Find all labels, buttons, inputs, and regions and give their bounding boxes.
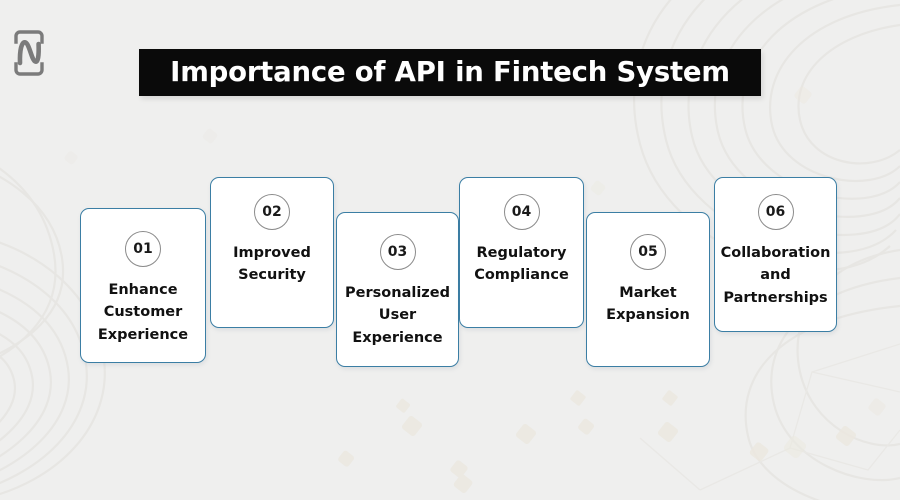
step-number-badge: 01 bbox=[125, 231, 161, 267]
step-number-badge: 04 bbox=[504, 194, 540, 230]
step-card-5[interactable]: 05 Market Expansion bbox=[586, 212, 710, 367]
brand-logo bbox=[13, 30, 45, 76]
step-card-2[interactable]: 02 Improved Security bbox=[210, 177, 334, 328]
step-card-6[interactable]: 06 Collaboration and Partnerships bbox=[714, 177, 837, 332]
step-label: Personalized User Experience bbox=[337, 282, 458, 349]
step-label: Regulatory Compliance bbox=[466, 242, 577, 287]
step-card-3[interactable]: 03 Personalized User Experience bbox=[336, 212, 459, 367]
step-label: Collaboration and Partnerships bbox=[713, 242, 839, 309]
step-card-1[interactable]: 01 Enhance Customer Experience bbox=[80, 208, 206, 363]
step-label: Improved Security bbox=[225, 242, 319, 287]
page-title: Importance of API in Fintech System bbox=[170, 59, 730, 87]
step-number-badge: 06 bbox=[758, 194, 794, 230]
step-card-4[interactable]: 04 Regulatory Compliance bbox=[459, 177, 584, 328]
step-number-badge: 03 bbox=[380, 234, 416, 270]
step-label: Enhance Customer Experience bbox=[90, 279, 196, 346]
step-number-badge: 02 bbox=[254, 194, 290, 230]
title-banner: Importance of API in Fintech System bbox=[139, 49, 761, 96]
step-number-badge: 05 bbox=[630, 234, 666, 270]
step-label: Market Expansion bbox=[598, 282, 698, 327]
infographic-canvas: Importance of API in Fintech System 01 E… bbox=[0, 0, 900, 500]
brand-logo-icon bbox=[13, 30, 45, 76]
